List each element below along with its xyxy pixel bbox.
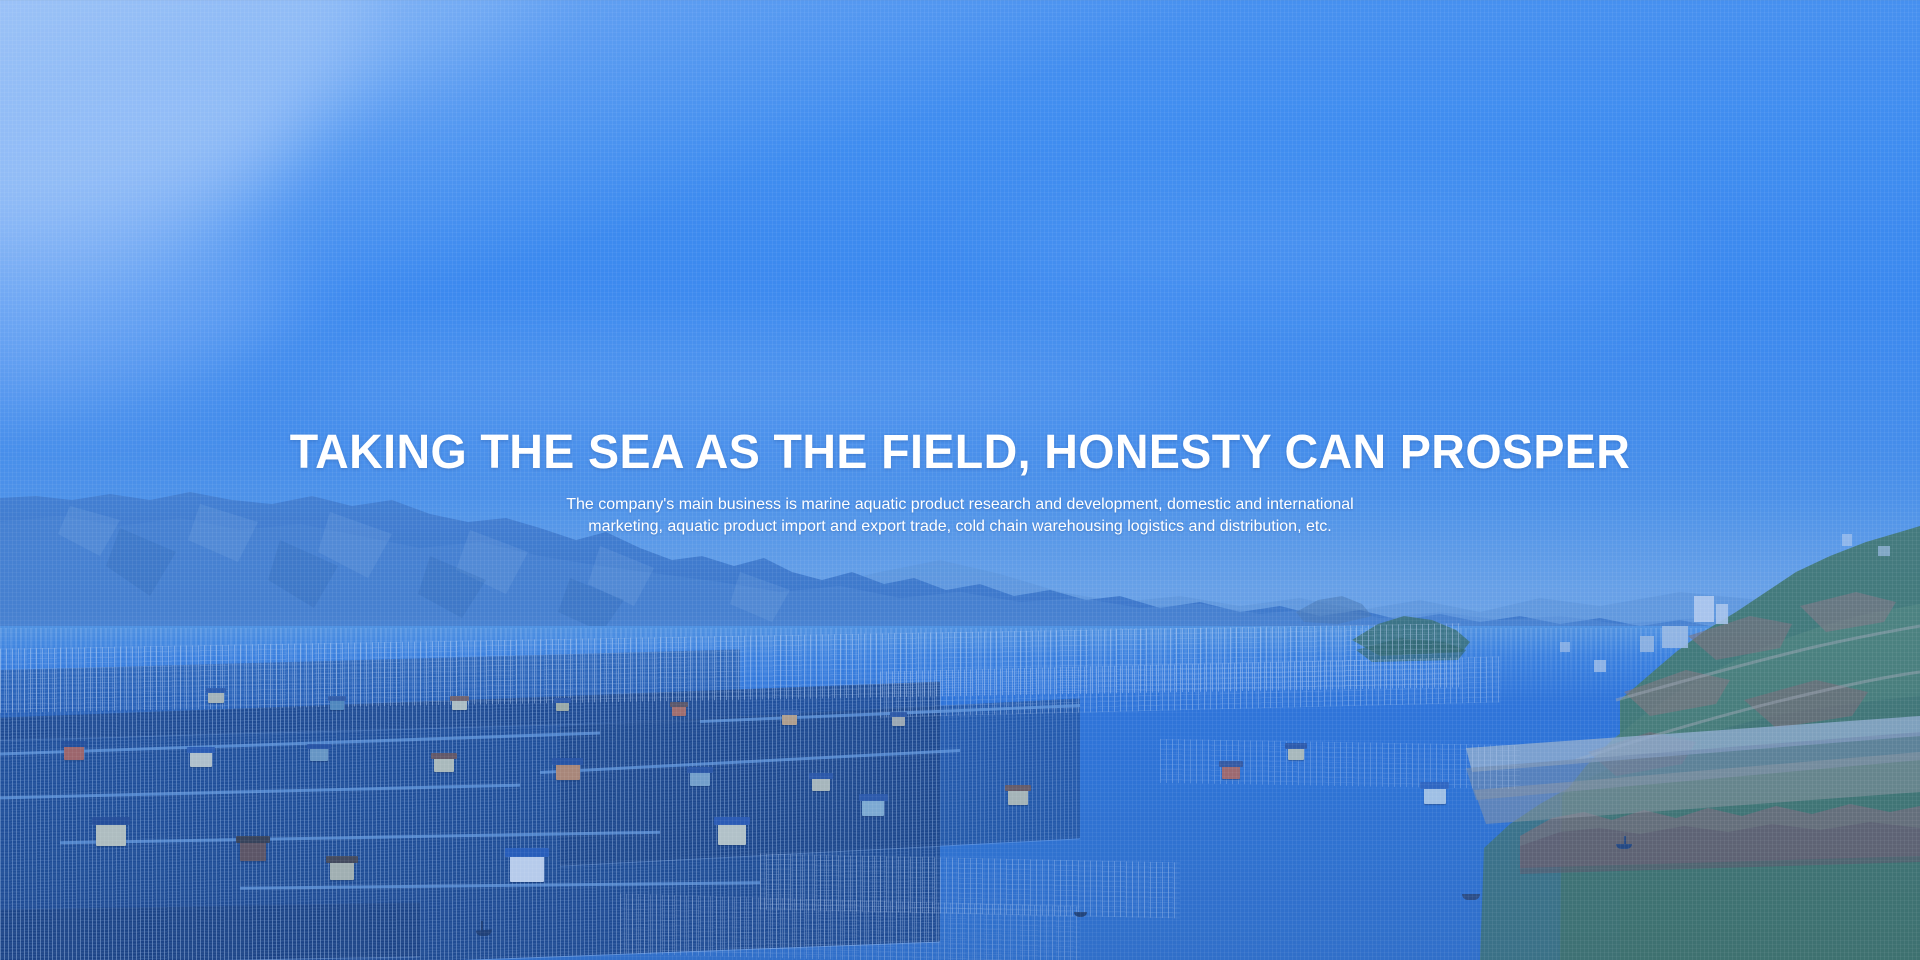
floating-hut <box>307 744 331 749</box>
floating-hut <box>431 753 457 759</box>
floating-hut <box>812 778 830 791</box>
hero-banner: TAKING THE SEA AS THE FIELD, HONESTY CAN… <box>0 0 1920 960</box>
floating-hut <box>206 688 226 693</box>
floating-hut <box>1424 788 1446 804</box>
floating-hut <box>556 764 580 780</box>
floating-hut <box>554 698 571 703</box>
floating-hut <box>1219 761 1243 767</box>
floating-hut <box>61 741 87 747</box>
floating-hut <box>892 716 905 726</box>
floating-hut <box>326 856 358 863</box>
floating-hut <box>505 848 549 857</box>
floating-hut <box>718 824 746 845</box>
fishing-boat <box>481 921 483 931</box>
floating-hut <box>1285 743 1307 749</box>
floating-hut <box>1008 790 1028 805</box>
floating-hut <box>687 767 713 773</box>
floating-hut <box>452 700 467 710</box>
floating-hut <box>330 862 354 880</box>
floating-hut <box>310 748 328 761</box>
floating-hut <box>328 696 346 701</box>
floating-hut <box>556 702 569 711</box>
floating-hut <box>890 712 907 717</box>
floating-hut <box>236 836 270 843</box>
floating-hut <box>1222 766 1240 779</box>
floating-hut <box>670 702 688 707</box>
floating-hut <box>809 773 833 779</box>
floating-hut <box>92 817 130 825</box>
floating-hut <box>510 856 544 882</box>
floating-hut <box>714 817 750 825</box>
floating-hut <box>1420 782 1449 789</box>
buoy-line <box>1160 739 1520 789</box>
floating-hut <box>187 747 215 753</box>
floating-hut <box>552 758 583 765</box>
floating-hut <box>1288 748 1304 760</box>
fishing-boat <box>1624 836 1626 845</box>
floating-hut <box>240 842 266 861</box>
floating-hut <box>64 746 84 760</box>
floating-hut <box>780 710 799 715</box>
floating-hut <box>190 752 212 767</box>
floating-hut <box>96 824 126 846</box>
floating-hut <box>672 706 686 716</box>
floating-hut <box>434 758 454 772</box>
floating-hut <box>330 700 344 710</box>
floating-hut <box>208 692 224 703</box>
floating-hut <box>782 714 797 725</box>
floating-hut <box>862 800 884 816</box>
buoy-line <box>620 894 1080 960</box>
floating-hut <box>450 696 469 701</box>
aquaculture-raft-field <box>0 902 420 960</box>
floating-hut <box>690 772 710 786</box>
floating-hut <box>1005 785 1031 791</box>
floating-hut <box>859 794 888 801</box>
